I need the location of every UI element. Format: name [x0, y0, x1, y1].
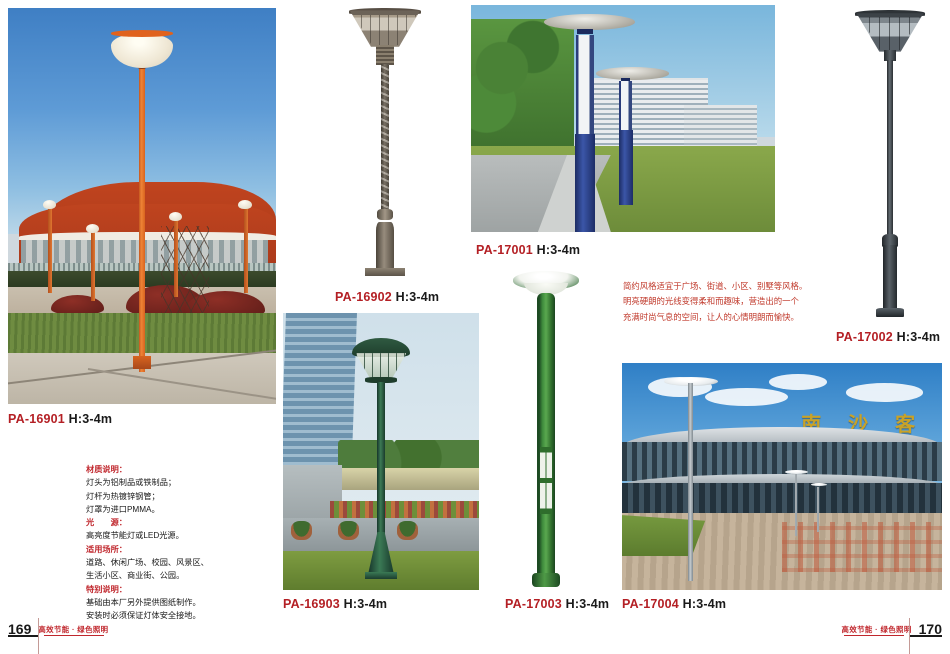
product-photo-pa-17002	[836, 2, 944, 322]
label-pa-17002: PA-17002 H:3-4m	[836, 330, 940, 344]
lamp-pole	[688, 383, 693, 580]
background-lamp-pole	[48, 206, 52, 293]
product-photo-pa-16901	[8, 8, 276, 404]
spec-light-source-line: 高亮度节能灯或LED光源。	[86, 529, 276, 542]
lamp-collar	[376, 45, 395, 65]
lamp-shade-ribs	[859, 17, 922, 51]
label-pa-16901: PA-16901 H:3-4m	[8, 412, 112, 426]
product-code: PA-16902	[335, 290, 392, 304]
lamp-column	[537, 293, 555, 575]
background-lamp-pole	[174, 218, 178, 297]
lamp-lit-section	[619, 81, 632, 131]
lamp-light-panel-grid	[540, 447, 552, 513]
lamp-pole	[575, 134, 595, 232]
bare-tree	[161, 226, 209, 313]
background-lamp-shade	[169, 212, 182, 221]
lamp-base	[376, 222, 395, 270]
marketing-blurb: 简约风格适宜于广场、街道、小区、别墅等风格。 明亮硬朗的光线变得柔和而趣味，营造…	[623, 279, 833, 325]
blurb-line: 简约风格适宜于广场、街道、小区、别墅等风格。	[623, 279, 833, 294]
office-building-secondary	[684, 105, 757, 150]
footer-divider	[38, 618, 39, 654]
lamp-shade	[544, 14, 635, 30]
label-pa-17004: PA-17004 H:3-4m	[622, 597, 726, 611]
lamp-pole-knob	[377, 209, 392, 220]
lamp-pole	[377, 382, 386, 537]
spec-special-line: 基础由本厂另外提供图纸制作。	[86, 596, 276, 609]
label-pa-16903: PA-16903 H:3-4m	[283, 597, 387, 611]
tree-row	[471, 19, 574, 160]
lamp-pole	[381, 64, 389, 212]
label-pa-16902: PA-16902 H:3-4m	[335, 290, 439, 304]
product-code: PA-17003	[505, 597, 562, 611]
catalog-page: PA-16901 H:3-4m PA-16902 H:3-4m	[0, 0, 950, 654]
footer-slogan-left: 高效节能 · 绿色照明	[38, 624, 108, 635]
lamp-foot-plate	[365, 268, 405, 276]
product-code: PA-17004	[622, 597, 679, 611]
product-photo-pa-17003	[492, 258, 600, 590]
spec-heading-light-source: 光 源：	[86, 516, 276, 529]
slogan-rule	[844, 635, 904, 636]
product-height: H:3-4m	[537, 243, 581, 257]
background-lamp-shade	[43, 200, 56, 209]
lamp-base	[883, 245, 897, 309]
specification-block: 材质说明： 灯头为铝制品或铁制品； 灯杆为热镀锌钢管； 灯罩为进口PMMA。 光…	[86, 463, 276, 622]
planter-pot	[338, 521, 360, 540]
background-lamp-shade	[785, 470, 807, 474]
planter-pot	[397, 521, 419, 540]
product-height: H:3-4m	[897, 330, 941, 344]
lamp-shade	[596, 67, 669, 79]
spec-material-line: 灯头为铝制品或铁制品；	[86, 476, 276, 489]
product-code: PA-17001	[476, 243, 533, 257]
product-photo-pa-16903	[283, 313, 479, 590]
label-pa-17003: PA-17003 H:3-4m	[505, 597, 609, 611]
page-number-rule	[910, 635, 942, 637]
lamp-foot-plate	[876, 308, 904, 318]
footer-divider	[909, 618, 910, 654]
product-photo-pa-17004: 南 沙 客	[622, 363, 942, 590]
blurb-line: 明亮硬朗的光线变得柔和而趣味，营造出的一个	[623, 294, 833, 309]
spec-application-line: 道路、休闲广场、校园、风景区、	[86, 556, 276, 569]
lamp-pole-base	[133, 356, 152, 369]
footer-slogan-right: 高效节能 · 绿色照明	[842, 624, 912, 635]
lamp-base	[532, 573, 560, 586]
product-photo-pa-17001	[471, 5, 775, 232]
product-code: PA-16903	[283, 597, 340, 611]
product-height: H:3-4m	[566, 597, 610, 611]
pergola	[338, 468, 479, 490]
blurb-line: 充满时尚气息的空间，让人的心情明朗而愉快。	[623, 310, 833, 325]
background-lamp-pole	[244, 206, 248, 293]
lamp-pole	[139, 44, 146, 373]
spec-special-line: 安装时必须保证灯体安全接地。	[86, 609, 276, 622]
lamp-lit-section	[576, 35, 594, 135]
slogan-rule	[44, 635, 104, 636]
spec-application-line: 生活小区、商业街、公园。	[86, 569, 276, 582]
product-height: H:3-4m	[69, 412, 113, 426]
lamp-pole	[887, 60, 893, 236]
product-photo-pa-16902	[330, 2, 440, 282]
cloud	[846, 383, 923, 401]
lamp-pole	[619, 130, 634, 205]
spec-heading-application: 适用场所：	[86, 543, 276, 556]
background-lamp-shade	[238, 200, 251, 209]
paving-pattern	[782, 522, 942, 572]
terminal-lower-glazing	[622, 483, 942, 513]
product-height: H:3-4m	[396, 290, 440, 304]
spec-material-line: 灯罩为进口PMMA。	[86, 503, 276, 516]
page-number-rule	[8, 635, 38, 637]
spec-heading-material: 材质说明：	[86, 463, 276, 476]
product-height: H:3-4m	[344, 597, 388, 611]
lamp-ring	[577, 29, 592, 34]
footer-left: 169 高效节能 · 绿色照明	[8, 618, 108, 640]
planter-pot	[291, 521, 313, 540]
spec-heading-special: 特别说明：	[86, 583, 276, 596]
label-pa-17001: PA-17001 H:3-4m	[476, 243, 580, 257]
product-code: PA-16901	[8, 412, 65, 426]
lamp-foot-plate	[365, 572, 396, 579]
background-lamp-pole	[817, 487, 819, 532]
flower-bed	[330, 501, 479, 518]
lamp-shade-rim	[111, 30, 174, 36]
spec-material-line: 灯杆为热镀锌钢管；	[86, 490, 276, 503]
background-lamp-pole	[795, 474, 798, 535]
footer-right: 高效节能 · 绿色照明 170	[842, 618, 942, 640]
product-height: H:3-4m	[683, 597, 727, 611]
background-lamp-pole	[91, 230, 95, 301]
product-code: PA-17002	[836, 330, 893, 344]
background-lamp-shade	[86, 224, 99, 233]
